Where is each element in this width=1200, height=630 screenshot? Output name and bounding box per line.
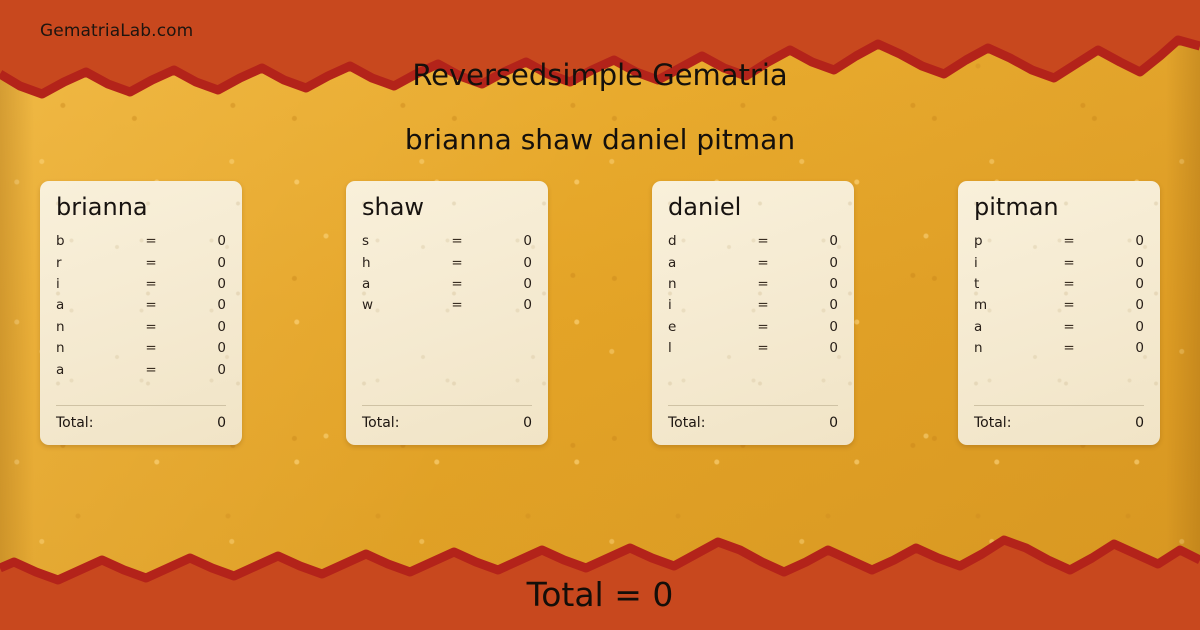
card-total-label: Total: [668, 415, 829, 431]
letter-glyph: a [362, 276, 440, 292]
equals-sign: = [440, 276, 474, 292]
letter-row: e=0 [668, 319, 838, 340]
letter-glyph: n [56, 340, 134, 356]
letter-row: s=0 [362, 233, 532, 254]
letter-row: m=0 [974, 297, 1144, 318]
letter-value: 0 [168, 233, 226, 249]
letter-glyph: l [668, 340, 746, 356]
letter-glyph: p [974, 233, 1052, 249]
equals-sign: = [134, 255, 168, 271]
card-total-row: Total:0 [56, 415, 226, 445]
letter-row: n=0 [56, 340, 226, 361]
letter-row: a=0 [974, 319, 1144, 340]
letter-row: t=0 [974, 276, 1144, 297]
letter-value: 0 [168, 340, 226, 356]
letter-rows: p=0i=0t=0m=0a=0n=0 [974, 233, 1144, 405]
letter-rows: d=0a=0n=0i=0e=0l=0 [668, 233, 838, 405]
letter-glyph: a [56, 362, 134, 378]
letter-row: w=0 [362, 297, 532, 318]
equals-sign: = [746, 340, 780, 356]
letter-value: 0 [780, 276, 838, 292]
letter-row: i=0 [974, 255, 1144, 276]
letter-value: 0 [168, 319, 226, 335]
card-total-value: 0 [829, 415, 838, 431]
letter-glyph: n [56, 319, 134, 335]
card-divider [56, 405, 226, 406]
letter-rows: s=0h=0a=0w=0 [362, 233, 532, 405]
letter-value: 0 [1086, 340, 1144, 356]
letter-glyph: n [668, 276, 746, 292]
letter-glyph: a [974, 319, 1052, 335]
equals-sign: = [1052, 297, 1086, 313]
letter-value: 0 [780, 319, 838, 335]
letter-value: 0 [168, 255, 226, 271]
letter-value: 0 [1086, 297, 1144, 313]
card-total-row: Total:0 [362, 415, 532, 445]
equals-sign: = [746, 297, 780, 313]
letter-row: a=0 [362, 276, 532, 297]
word-card: briannab=0r=0i=0a=0n=0n=0a=0Total:0 [40, 181, 242, 445]
equals-sign: = [1052, 233, 1086, 249]
card-total-value: 0 [217, 415, 226, 431]
equals-sign: = [440, 255, 474, 271]
letter-row: p=0 [974, 233, 1144, 254]
letter-glyph: m [974, 297, 1052, 313]
page-title: Reversedsimple Gematria [0, 58, 1200, 92]
grand-total: Total = 0 [0, 575, 1200, 614]
card-divider [974, 405, 1144, 406]
letter-value: 0 [780, 297, 838, 313]
letter-row: b=0 [56, 233, 226, 254]
word-card: shaws=0h=0a=0w=0Total:0 [346, 181, 548, 445]
letter-value: 0 [1086, 233, 1144, 249]
equals-sign: = [1052, 319, 1086, 335]
letter-row: r=0 [56, 255, 226, 276]
word-card-title: shaw [362, 195, 532, 220]
letter-value: 0 [780, 340, 838, 356]
word-card: pitmanp=0i=0t=0m=0a=0n=0Total:0 [958, 181, 1160, 445]
card-divider [668, 405, 838, 406]
word-card-title: daniel [668, 195, 838, 220]
letter-row: a=0 [668, 255, 838, 276]
equals-sign: = [440, 297, 474, 313]
equals-sign: = [746, 233, 780, 249]
equals-sign: = [134, 362, 168, 378]
gematria-result-card: GematriaLab.com Reversedsimple Gematria … [0, 0, 1200, 630]
letter-row: n=0 [974, 340, 1144, 361]
equals-sign: = [746, 319, 780, 335]
equals-sign: = [440, 233, 474, 249]
word-card-title: brianna [56, 195, 226, 220]
letter-row: n=0 [56, 319, 226, 340]
letter-row: h=0 [362, 255, 532, 276]
equals-sign: = [134, 297, 168, 313]
card-total-label: Total: [362, 415, 523, 431]
letter-glyph: t [974, 276, 1052, 292]
letter-glyph: a [668, 255, 746, 271]
letter-value: 0 [780, 255, 838, 271]
letter-glyph: s [362, 233, 440, 249]
letter-row: a=0 [56, 297, 226, 318]
card-total-label: Total: [56, 415, 217, 431]
letter-row: l=0 [668, 340, 838, 361]
letter-row: n=0 [668, 276, 838, 297]
letter-value: 0 [474, 276, 532, 292]
equals-sign: = [134, 319, 168, 335]
card-total-row: Total:0 [974, 415, 1144, 445]
card-total-label: Total: [974, 415, 1135, 431]
letter-row: i=0 [668, 297, 838, 318]
word-card: danield=0a=0n=0i=0e=0l=0Total:0 [652, 181, 854, 445]
equals-sign: = [1052, 255, 1086, 271]
site-brand[interactable]: GematriaLab.com [40, 21, 193, 41]
letter-row: i=0 [56, 276, 226, 297]
word-card-title: pitman [974, 195, 1144, 220]
card-total-row: Total:0 [668, 415, 838, 445]
page-subtitle: brianna shaw daniel pitman [0, 123, 1200, 156]
letter-glyph: h [362, 255, 440, 271]
card-divider [362, 405, 532, 406]
letter-glyph: e [668, 319, 746, 335]
equals-sign: = [1052, 340, 1086, 356]
letter-glyph: i [974, 255, 1052, 271]
letter-glyph: i [56, 276, 134, 292]
letter-glyph: b [56, 233, 134, 249]
letter-value: 0 [474, 255, 532, 271]
letter-value: 0 [780, 233, 838, 249]
letter-value: 0 [1086, 276, 1144, 292]
letter-glyph: w [362, 297, 440, 313]
equals-sign: = [134, 233, 168, 249]
equals-sign: = [746, 276, 780, 292]
letter-row: a=0 [56, 362, 226, 383]
letter-value: 0 [1086, 319, 1144, 335]
letter-value: 0 [474, 297, 532, 313]
equals-sign: = [1052, 276, 1086, 292]
letter-value: 0 [474, 233, 532, 249]
card-total-value: 0 [1135, 415, 1144, 431]
letter-glyph: d [668, 233, 746, 249]
letter-glyph: r [56, 255, 134, 271]
letter-glyph: a [56, 297, 134, 313]
word-cards-container: briannab=0r=0i=0a=0n=0n=0a=0Total:0shaws… [40, 181, 1160, 445]
equals-sign: = [134, 340, 168, 356]
letter-glyph: n [974, 340, 1052, 356]
equals-sign: = [134, 276, 168, 292]
letter-value: 0 [168, 362, 226, 378]
letter-value: 0 [168, 276, 226, 292]
letter-value: 0 [1086, 255, 1144, 271]
equals-sign: = [746, 255, 780, 271]
letter-glyph: i [668, 297, 746, 313]
letter-row: d=0 [668, 233, 838, 254]
card-total-value: 0 [523, 415, 532, 431]
letter-value: 0 [168, 297, 226, 313]
letter-rows: b=0r=0i=0a=0n=0n=0a=0 [56, 233, 226, 405]
